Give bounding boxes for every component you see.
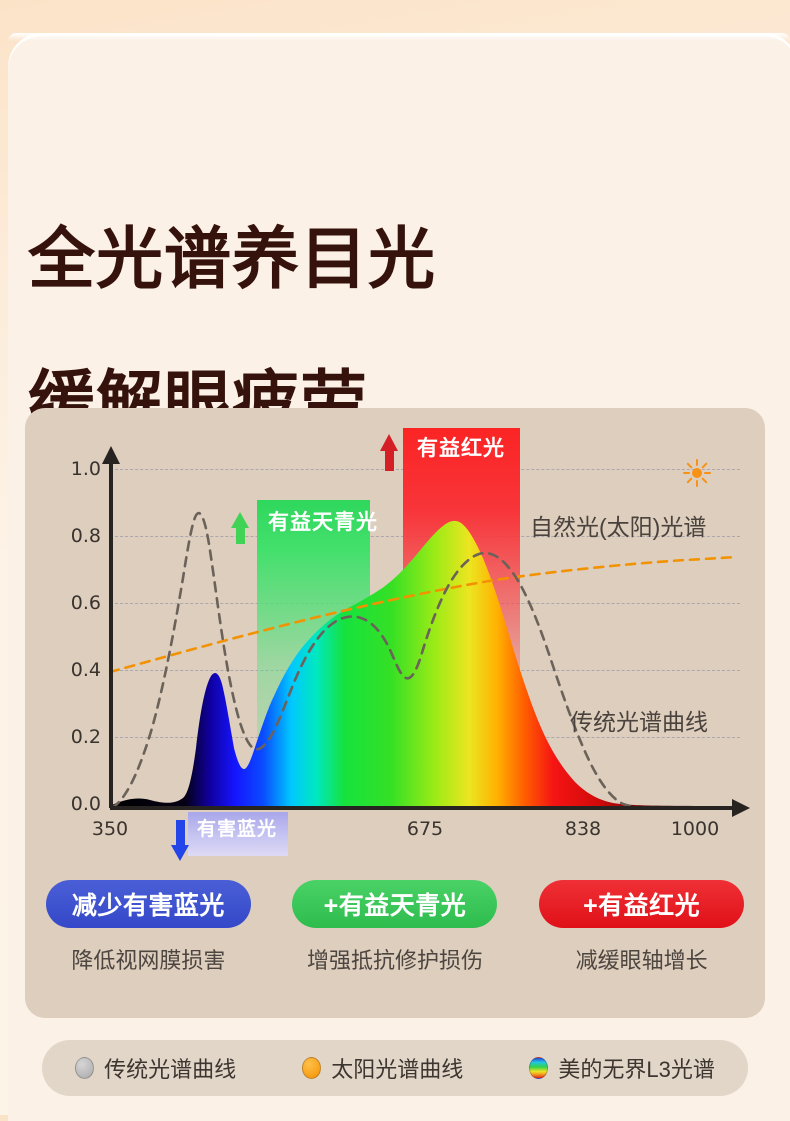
benefits-row: 减少有害蓝光 降低视网膜损害 +有益天青光 增强抵抗修护损伤 +有益红光 减缓眼… — [25, 880, 765, 975]
benefit-caption-blue: 降低视网膜损害 — [71, 943, 225, 975]
arrow-up-green-stem-icon — [236, 526, 245, 544]
y-tick-label: 0.2 — [41, 726, 101, 748]
sun-icon — [682, 458, 712, 488]
legend-item-l3: 美的无界L3光谱 — [529, 1052, 714, 1084]
rainbow-dot-icon — [529, 1057, 548, 1079]
band-label-harmful-blue: 有害蓝光 — [197, 814, 277, 841]
gray-dot-icon — [75, 1057, 94, 1079]
arrow-down-blue-stem-icon — [176, 820, 185, 847]
x-tick-label: 1000 — [655, 818, 735, 840]
y-tick-label: 0.6 — [41, 592, 101, 614]
benefit-item-green: +有益天青光 增强抵抗修护损伤 — [285, 880, 505, 975]
y-tick-label: 1.0 — [41, 458, 101, 480]
benefit-item-blue: 减少有害蓝光 降低视网膜损害 — [38, 880, 258, 975]
x-axis-line — [110, 806, 735, 810]
benefit-pill-add-cyan-light[interactable]: +有益天青光 — [292, 880, 497, 928]
y-tick-label: 0.8 — [41, 525, 101, 547]
arrow-down-blue-icon — [171, 845, 189, 861]
benefit-pill-add-red-light[interactable]: +有益红光 — [539, 880, 744, 928]
x-tick-label: 675 — [385, 818, 465, 840]
page-root: 全光谱养目光 缓解眼疲劳 — [0, 0, 790, 1115]
x-tick-label: 838 — [543, 818, 623, 840]
chart-legend: 传统光谱曲线 太阳光谱曲线 美的无界L3光谱 — [42, 1040, 748, 1096]
sun-spectrum-label: 自然光(太阳)光谱 — [530, 508, 706, 542]
benefit-item-red: +有益红光 减缓眼轴增长 — [532, 880, 752, 975]
title-line-1: 全光谱养目光 — [28, 224, 668, 296]
benefit-pill-reduce-blue-light[interactable]: 减少有害蓝光 — [46, 880, 251, 928]
x-axis-arrow — [732, 799, 750, 817]
legend-label-l3: 美的无界L3光谱 — [558, 1052, 714, 1084]
traditional-spectrum-label: 传统光谱曲线 — [570, 703, 708, 737]
band-label-beneficial-red: 有益红光 — [417, 432, 505, 462]
x-tick-label: 350 — [70, 818, 150, 840]
y-axis-arrow — [102, 446, 120, 464]
legend-label-sun: 太阳光谱曲线 — [331, 1052, 463, 1084]
arrow-up-red-stem-icon — [385, 449, 394, 471]
benefit-caption-green: 增强抵抗修护损伤 — [307, 943, 483, 975]
y-axis-line — [109, 460, 113, 808]
benefit-caption-red: 减缓眼轴增长 — [576, 943, 708, 975]
legend-item-sun: 太阳光谱曲线 — [302, 1052, 463, 1084]
band-label-beneficial-cyan: 有益天青光 — [268, 506, 378, 536]
legend-label-traditional: 传统光谱曲线 — [104, 1052, 236, 1084]
y-tick-label: 0.0 — [41, 793, 101, 815]
orange-dot-icon — [302, 1057, 321, 1079]
legend-item-traditional: 传统光谱曲线 — [75, 1052, 236, 1084]
y-tick-label: 0.4 — [41, 659, 101, 681]
